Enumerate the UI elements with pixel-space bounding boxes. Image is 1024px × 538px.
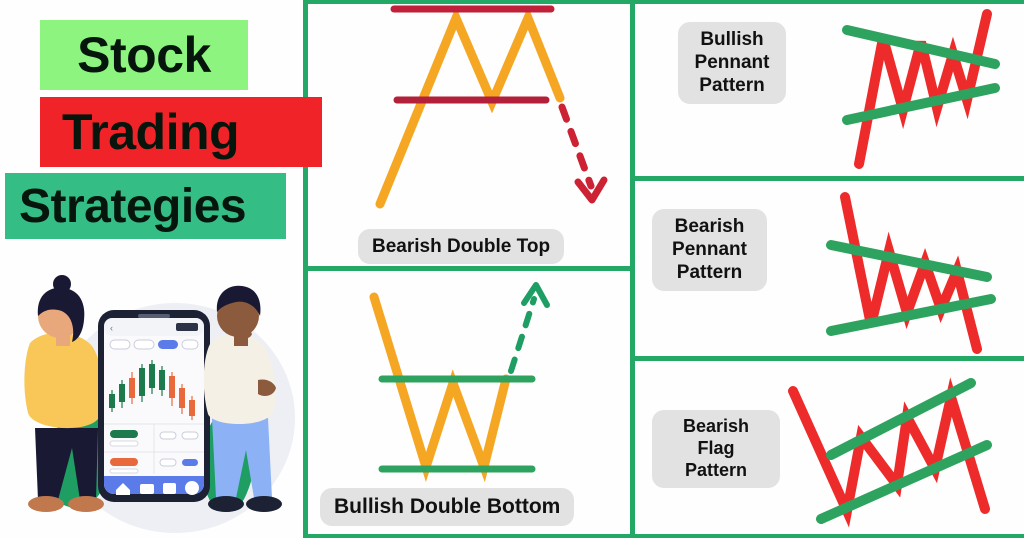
panel-bearish-double-top [308,4,630,266]
title-line-stock: Stock [40,20,248,90]
traders-illustration: ‹ [0,268,303,536]
label-bullish-double-bottom: Bullish Double Bottom [320,488,574,526]
label-bearish-flag: Bearish Flag Pattern [652,410,780,488]
label-bearish-double-top: Bearish Double Top [358,229,564,264]
divider-bottom [303,534,1024,538]
label-bullish-pennant: Bullish Pennant Pattern [678,22,786,104]
title-line-trading: Trading [40,97,322,167]
title-line-strategies: Strategies [5,173,286,239]
svg-text:‹: ‹ [110,323,113,333]
infographic-canvas: Stock Trading Strategies [0,0,1024,538]
label-bearish-pennant: Bearish Pennant Pattern [652,209,767,291]
